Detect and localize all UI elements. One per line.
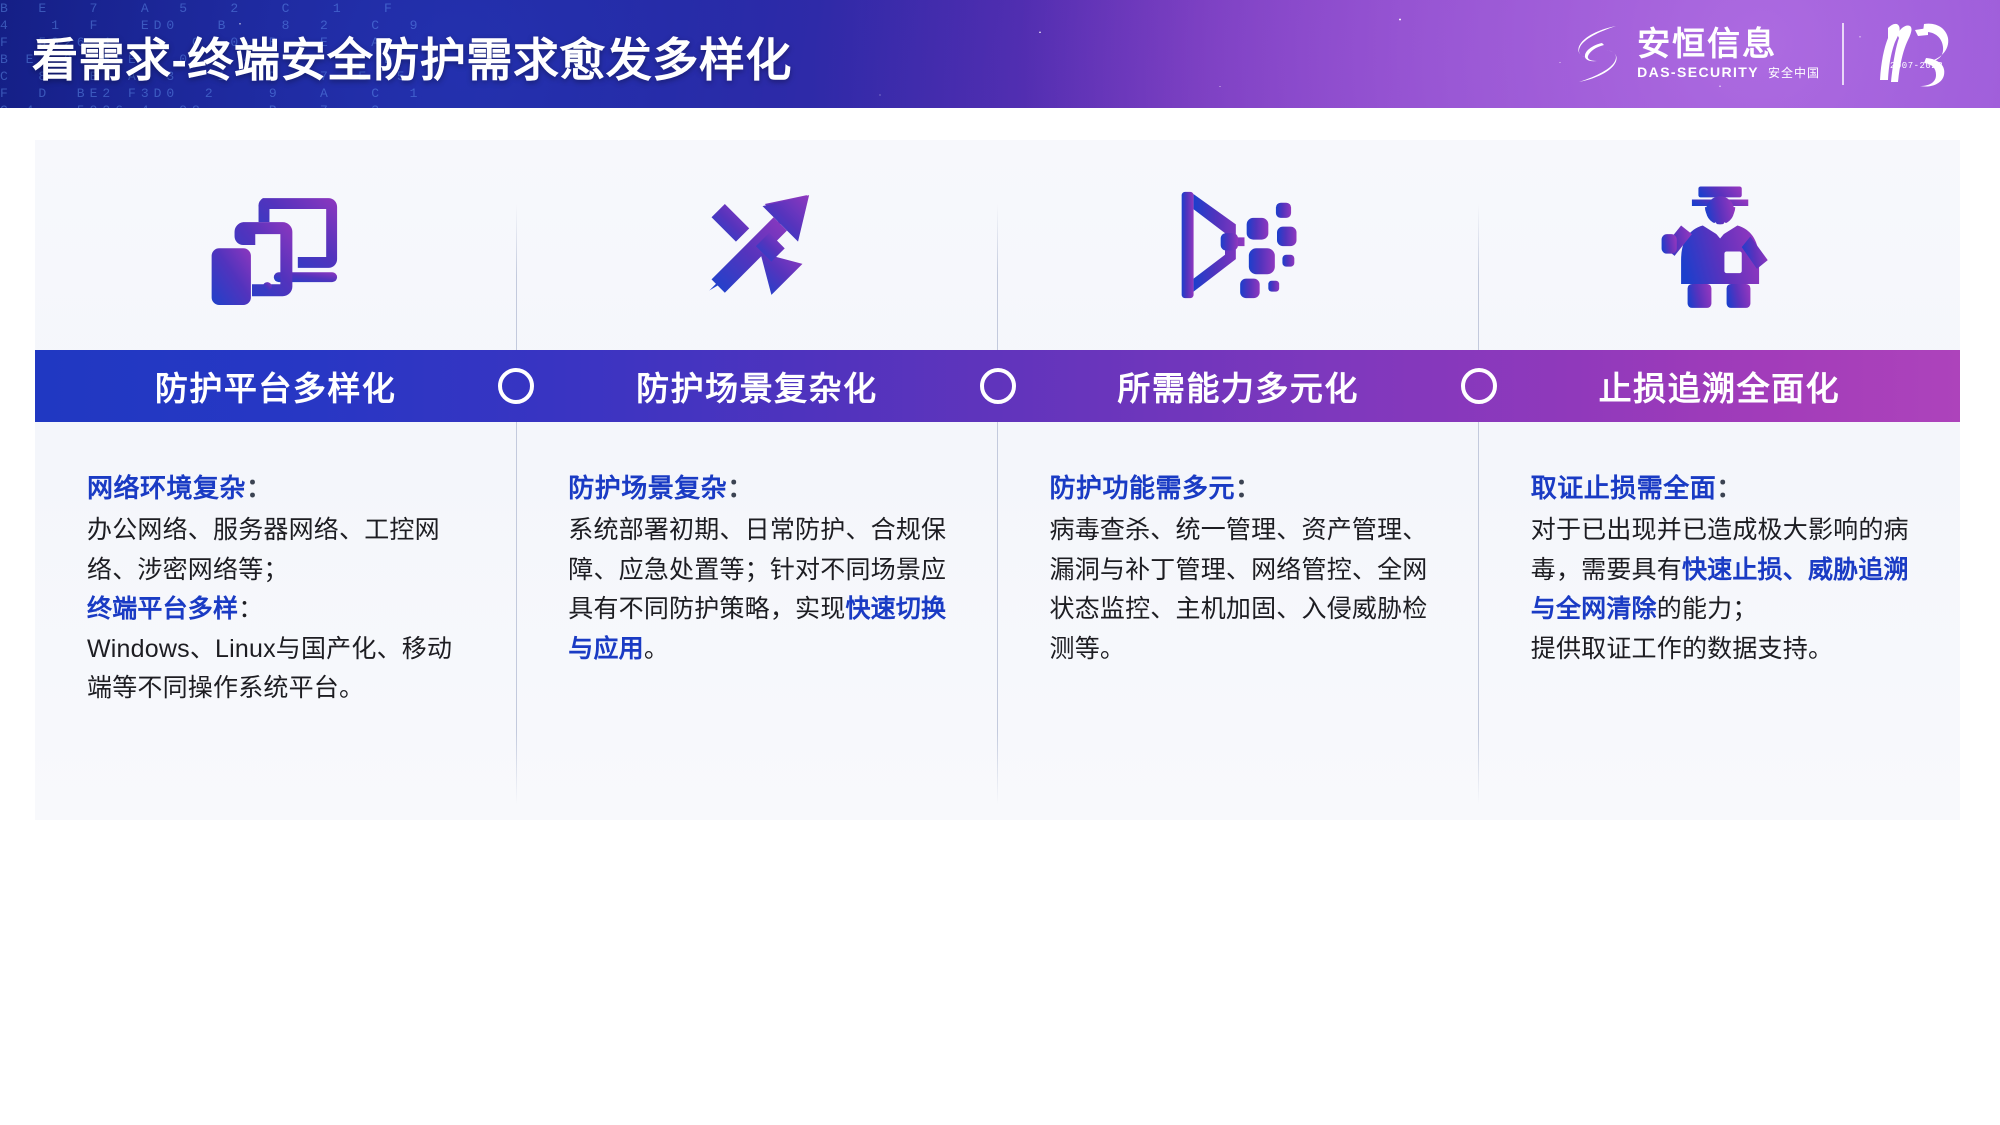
content-card: 防护平台多样化 防护场景复杂化 所需能力多元化 止损追溯全面化 网络环境复杂： xyxy=(35,140,1960,820)
brand-name-en: DAS-SECURITY xyxy=(1637,64,1759,80)
detail-column-2: 防护场景复杂： 系统部署初期、日常防护、合规保障、应急处置等；针对不同场景应具有… xyxy=(516,422,997,820)
icon-cell-3 xyxy=(998,140,1479,350)
das-security-logo: 安恒信息 DAS-SECURITY 安全中国 xyxy=(1571,23,1820,85)
slide-header: B E 7 A 5 2 C 1 F 4 1 F ED0 B 8 2 C 9 F … xyxy=(0,0,2000,108)
category-bar: 防护平台多样化 防护场景复杂化 所需能力多元化 止损追溯全面化 xyxy=(35,350,1960,422)
column-1-line-1: 办公网络、服务器网络、工控网络、涉密网络等； xyxy=(87,511,474,590)
column-2-heading-text: 防护场景复杂 xyxy=(568,473,727,503)
column-1-heading: 网络环境复杂： xyxy=(87,468,474,505)
column-1-heading-colon: ： xyxy=(246,473,273,503)
column-3-heading-text: 防护功能需多元 xyxy=(1050,473,1236,503)
circle-ring-icon xyxy=(498,368,534,404)
detail-columns: 网络环境复杂： 办公网络、服务器网络、工控网络、涉密网络等； 终端平台多样： W… xyxy=(35,422,1960,820)
column-2-heading-colon: ： xyxy=(727,473,754,503)
logo-divider xyxy=(1842,23,1844,85)
column-2-body: 系统部署初期、日常防护、合规保障、应急处置等；针对不同场景应具有不同防护策略，实… xyxy=(568,511,955,669)
column-2-heading: 防护场景复杂： xyxy=(568,468,955,505)
column-1-subheading-text: 终端平台多样 xyxy=(87,595,238,623)
icon-row xyxy=(35,140,1960,350)
category-label-1[interactable]: 防护平台多样化 xyxy=(35,362,516,410)
multi-device-icon xyxy=(210,185,342,305)
column-4-heading: 取证止损需全面： xyxy=(1531,468,1918,505)
column-4-heading-text: 取证止损需全面 xyxy=(1531,473,1717,503)
column-3-body: 病毒查杀、统一管理、资产管理、漏洞与补丁管理、网络管控、全网状态监控、主机加固、… xyxy=(1050,511,1437,669)
category-label-4[interactable]: 止损追溯全面化 xyxy=(1479,362,1960,410)
column-4-body-part-2: 的能力； xyxy=(1657,595,1758,623)
brand-name-en-row: DAS-SECURITY 安全中国 xyxy=(1637,64,1820,81)
circle-ring-icon xyxy=(1461,368,1497,404)
brand-name-cn: 安恒信息 xyxy=(1637,27,1820,62)
das-security-swoosh-logo-icon xyxy=(1571,23,1625,85)
column-3-heading: 防护功能需多元： xyxy=(1050,468,1437,505)
anniversary-badge: 2007-2022 xyxy=(1866,18,1952,90)
column-1-subheading-colon: ： xyxy=(238,595,263,623)
detail-column-4: 取证止损需全面： 对于已出现并已造成极大影响的病毒，需要具有快速止损、威胁追溯与… xyxy=(1479,422,1960,820)
anniversary-years: 2007-2022 xyxy=(1890,61,1943,71)
column-1-subheading: 终端平台多样： xyxy=(87,590,474,630)
security-guard-icon xyxy=(1659,180,1779,310)
column-3-body-part-1: 病毒查杀、统一管理、资产管理、漏洞与补丁管理、网络管控、全网状态监控、主机加固、… xyxy=(1050,516,1428,663)
icon-cell-4 xyxy=(1479,140,1960,350)
column-4-body: 对于已出现并已造成极大影响的病毒，需要具有快速止损、威胁追溯与全网清除的能力； … xyxy=(1531,511,1918,669)
crossing-arrows-icon xyxy=(696,184,818,306)
funnel-modules-icon xyxy=(1173,185,1303,305)
brand-logo-lockup: 安恒信息 DAS-SECURITY 安全中国 xyxy=(1571,14,1952,94)
anniversary-15-icon xyxy=(1866,77,1952,94)
icon-cell-2 xyxy=(516,140,997,350)
category-label-3[interactable]: 所需能力多元化 xyxy=(998,362,1479,410)
column-1-line-2: Windows、Linux与国产化、移动端等不同操作系统平台。 xyxy=(87,630,474,709)
column-4-body-part-3: 提供取证工作的数据支持。 xyxy=(1531,635,1833,663)
detail-column-1: 网络环境复杂： 办公网络、服务器网络、工控网络、涉密网络等； 终端平台多样： W… xyxy=(35,422,516,820)
slide: B E 7 A 5 2 C 1 F 4 1 F ED0 B 8 2 C 9 F … xyxy=(0,0,2000,1125)
column-1-body: 办公网络、服务器网络、工控网络、涉密网络等； 终端平台多样： Windows、L… xyxy=(87,511,474,709)
page-title: 看需求-终端安全防护需求愈发多样化 xyxy=(32,24,792,90)
circle-ring-icon xyxy=(980,368,1016,404)
column-2-body-part-2: 。 xyxy=(644,635,669,663)
detail-column-3: 防护功能需多元： 病毒查杀、统一管理、资产管理、漏洞与补丁管理、网络管控、全网状… xyxy=(998,422,1479,820)
category-label-2[interactable]: 防护场景复杂化 xyxy=(516,362,997,410)
column-3-heading-colon: ： xyxy=(1235,473,1262,503)
icon-cell-1 xyxy=(35,140,516,350)
brand-tagline: 安全中国 xyxy=(1768,64,1820,81)
brand-text: 安恒信息 DAS-SECURITY 安全中国 xyxy=(1637,27,1820,82)
column-1-heading-text: 网络环境复杂 xyxy=(87,473,246,503)
column-4-heading-colon: ： xyxy=(1716,473,1743,503)
